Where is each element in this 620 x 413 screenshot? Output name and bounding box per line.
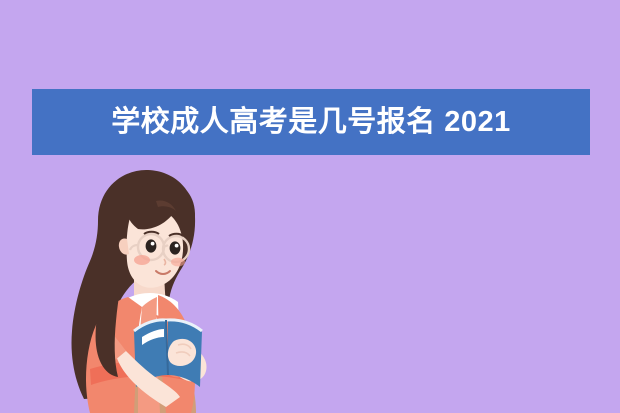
page-title: 学校成人高考是几号报名 2021 xyxy=(111,108,511,137)
girl-reading-illustration xyxy=(38,163,228,413)
page-canvas: 学校成人高考是几号报名 2021 xyxy=(0,0,620,413)
title-banner: 学校成人高考是几号报名 2021 xyxy=(32,89,590,155)
